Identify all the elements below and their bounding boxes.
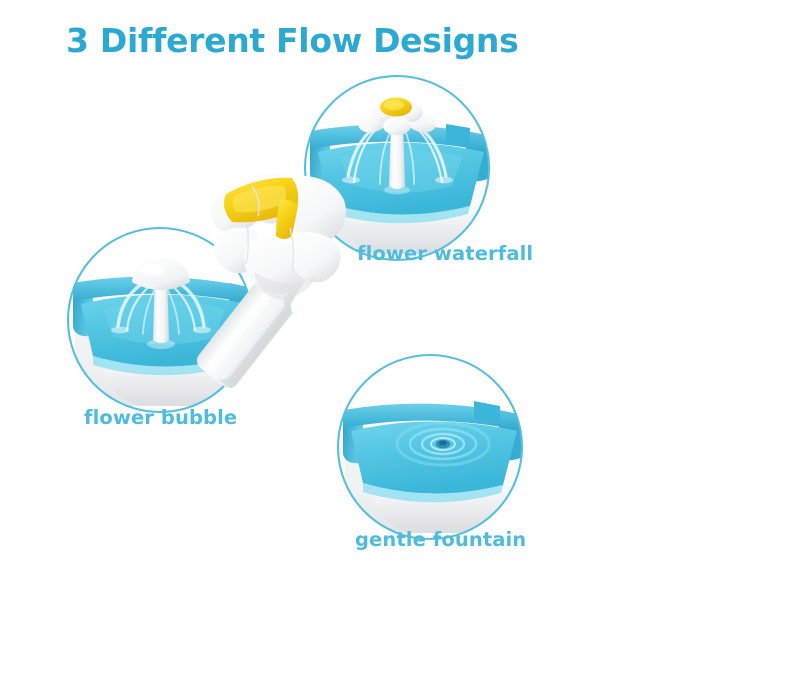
dome-highlight <box>140 264 166 276</box>
petal-lower-right <box>293 232 341 282</box>
petal-front <box>383 117 411 135</box>
caption-gentle-fountain: gentle fountain <box>355 528 526 551</box>
flower-center-highlight <box>384 100 404 110</box>
product-infographic: 3 Different Flow Designs <box>0 0 785 694</box>
attachment-flower-head <box>210 173 346 300</box>
outlet-hole-inner <box>439 441 447 446</box>
splash-left <box>111 327 129 334</box>
caption-flower-bubble: flower bubble <box>84 406 237 429</box>
flower-stamen-tab <box>276 200 298 239</box>
splash-left <box>342 177 360 184</box>
vignette-gentle-fountain <box>338 355 525 539</box>
splash-right <box>435 177 453 184</box>
splash-right <box>193 327 211 334</box>
page-title: 3 Different Flow Designs <box>66 21 518 60</box>
caption-flower-waterfall: flower waterfall <box>357 242 533 265</box>
gentle-scene <box>343 401 525 533</box>
